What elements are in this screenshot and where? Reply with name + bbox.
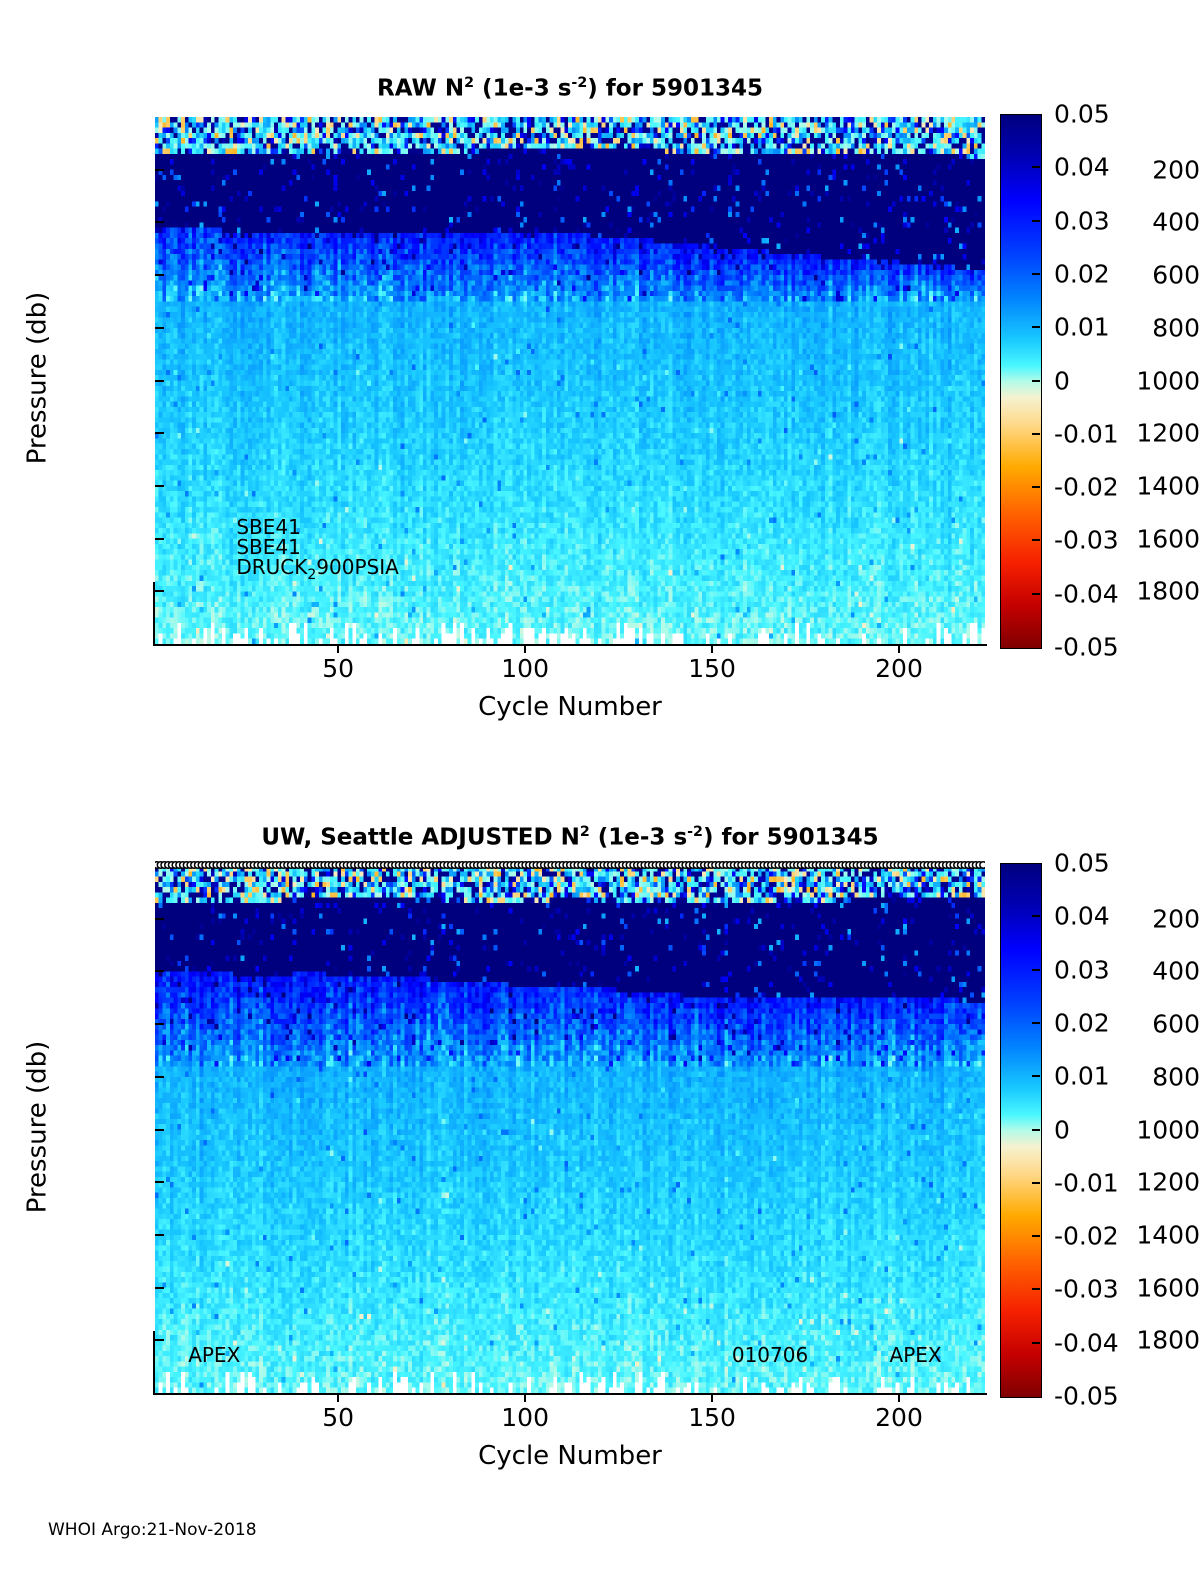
raw-colorbar-tick-mark bbox=[1032, 326, 1040, 328]
raw-xtick-label: 100 bbox=[501, 654, 549, 683]
adjusted-axis-left-spine bbox=[153, 1331, 155, 1393]
raw-ytick-mark bbox=[155, 432, 164, 434]
raw-ytick-label: 1000 bbox=[1059, 366, 1200, 395]
raw-y-axis-label: Pressure (db) bbox=[22, 114, 52, 641]
raw-colorbar-tick-label: 0 bbox=[1054, 366, 1070, 395]
raw-colorbar-tick-label: -0.02 bbox=[1054, 473, 1119, 502]
raw-colorbar-tick-label: -0.01 bbox=[1054, 419, 1119, 448]
adjusted-ytick-label: 1000 bbox=[1059, 1115, 1200, 1144]
adjusted-colorbar-tick-mark bbox=[1032, 1075, 1040, 1077]
adjusted-colorbar-tick-label: 0 bbox=[1054, 1115, 1070, 1144]
raw-colorbar-tick-mark bbox=[1032, 273, 1040, 275]
adjusted-colorbar-tick-mark bbox=[1032, 1342, 1040, 1344]
adjusted-ytick-mark bbox=[155, 1339, 164, 1341]
raw-annotation: DRUCK2900PSIA bbox=[236, 555, 398, 583]
raw-colorbar-tick-label: 0.05 bbox=[1054, 100, 1110, 129]
raw-colorbar[interactable] bbox=[1000, 114, 1042, 649]
adjusted-colorbar-tick-label: -0.04 bbox=[1054, 1328, 1119, 1357]
adjusted-x-axis-label: Cycle Number bbox=[155, 1441, 985, 1471]
raw-colorbar-tick-label: -0.04 bbox=[1054, 579, 1119, 608]
adjusted-colorbar-tick-label: 0.04 bbox=[1054, 902, 1110, 931]
adjusted-colorbar-gradient bbox=[1001, 864, 1041, 1397]
raw-xtick-label: 150 bbox=[688, 654, 736, 683]
adjusted-ytick-mark bbox=[155, 970, 164, 972]
adjusted-colorbar-tick-mark bbox=[1032, 1182, 1040, 1184]
raw-colorbar-tick-mark bbox=[1032, 433, 1040, 435]
adjusted-xtick-label: 50 bbox=[322, 1403, 354, 1432]
raw-colorbar-tick-label: 0.04 bbox=[1054, 153, 1110, 182]
adjusted-colorbar-tick-label: 0.02 bbox=[1054, 1008, 1110, 1037]
adjusted-colorbar-tick-mark bbox=[1032, 915, 1040, 917]
adjusted-colorbar-tick-mark bbox=[1032, 1022, 1040, 1024]
raw-ytick-mark bbox=[155, 221, 164, 223]
adjusted-colorbar-tick-label: 0.03 bbox=[1054, 955, 1110, 984]
adjusted-xtick-label: 150 bbox=[688, 1403, 736, 1432]
adjusted-colorbar-tick-label: -0.03 bbox=[1054, 1275, 1119, 1304]
adjusted-colorbar[interactable] bbox=[1000, 863, 1042, 1398]
raw-ytick-mark bbox=[155, 538, 164, 540]
adjusted-heatmap-axes[interactable] bbox=[155, 866, 985, 1393]
raw-ytick-mark bbox=[155, 274, 164, 276]
adjusted-colorbar-tick-label: 0.05 bbox=[1054, 849, 1110, 878]
adjusted-colorbar-tick-mark bbox=[1032, 969, 1040, 971]
adjusted-annotation: 010706 bbox=[732, 1343, 808, 1367]
adjusted-colorbar-tick-label: 0.01 bbox=[1054, 1062, 1110, 1091]
adjusted-colorbar-tick-mark bbox=[1032, 1288, 1040, 1290]
raw-xtick-label: 200 bbox=[875, 654, 923, 683]
raw-colorbar-tick-mark bbox=[1032, 166, 1040, 168]
adjusted-heatmap-canvas[interactable] bbox=[155, 866, 985, 1393]
footer-credit: WHOI Argo:21-Nov-2018 bbox=[48, 1520, 257, 1540]
adjusted-colorbar-tick-label: -0.02 bbox=[1054, 1222, 1119, 1251]
adjusted-ytick-mark bbox=[155, 1023, 164, 1025]
adjusted-annotation: APEX bbox=[890, 1343, 942, 1367]
adjusted-colorbar-tick-mark bbox=[1032, 1235, 1040, 1237]
adjusted-ytick-mark bbox=[155, 1129, 164, 1131]
adjusted-ytick-mark bbox=[155, 1287, 164, 1289]
raw-colorbar-tick-mark bbox=[1032, 220, 1040, 222]
raw-colorbar-tick-label: 0.01 bbox=[1054, 313, 1110, 342]
adjusted-ytick-mark bbox=[155, 918, 164, 920]
raw-colorbar-gradient bbox=[1001, 115, 1041, 648]
raw-colorbar-tick-label: 0.03 bbox=[1054, 206, 1110, 235]
raw-ytick-mark bbox=[155, 485, 164, 487]
raw-ytick-mark bbox=[155, 380, 164, 382]
cycle-marker-row[interactable] bbox=[155, 857, 985, 873]
adjusted-y-axis-label: Pressure (db) bbox=[22, 863, 52, 1390]
adjusted-ytick-mark bbox=[155, 1076, 164, 1078]
raw-x-axis-label: Cycle Number bbox=[155, 692, 985, 722]
raw-ytick-mark bbox=[155, 327, 164, 329]
raw-axis-left-spine bbox=[153, 582, 155, 644]
raw-colorbar-tick-label: -0.03 bbox=[1054, 526, 1119, 555]
raw-axis-bottom-spine bbox=[153, 644, 987, 646]
raw-colorbar-tick-label: -0.05 bbox=[1054, 633, 1119, 662]
adjusted-colorbar-tick-label: -0.05 bbox=[1054, 1382, 1119, 1411]
adjusted-ytick-mark bbox=[155, 1234, 164, 1236]
raw-colorbar-tick-mark bbox=[1032, 539, 1040, 541]
raw-xtick-label: 50 bbox=[322, 654, 354, 683]
adjusted-colorbar-tick-mark bbox=[1032, 1129, 1040, 1131]
raw-ytick-mark bbox=[155, 590, 164, 592]
adjusted-plot-title: UW, Seattle ADJUSTED N2 (1e-3 s-2) for 5… bbox=[155, 824, 985, 851]
adjusted-xtick-label: 100 bbox=[501, 1403, 549, 1432]
raw-plot-title: RAW N2 (1e-3 s-2) for 5901345 bbox=[155, 75, 985, 102]
adjusted-annotation: APEX bbox=[188, 1343, 240, 1367]
adjusted-xtick-label: 200 bbox=[875, 1403, 923, 1432]
raw-colorbar-tick-mark bbox=[1032, 486, 1040, 488]
raw-ytick-mark bbox=[155, 169, 164, 171]
raw-colorbar-tick-label: 0.02 bbox=[1054, 259, 1110, 288]
raw-colorbar-tick-mark bbox=[1032, 380, 1040, 382]
adjusted-colorbar-tick-label: -0.01 bbox=[1054, 1168, 1119, 1197]
adjusted-axis-bottom-spine bbox=[153, 1393, 987, 1395]
adjusted-ytick-mark bbox=[155, 1181, 164, 1183]
raw-colorbar-tick-mark bbox=[1032, 593, 1040, 595]
